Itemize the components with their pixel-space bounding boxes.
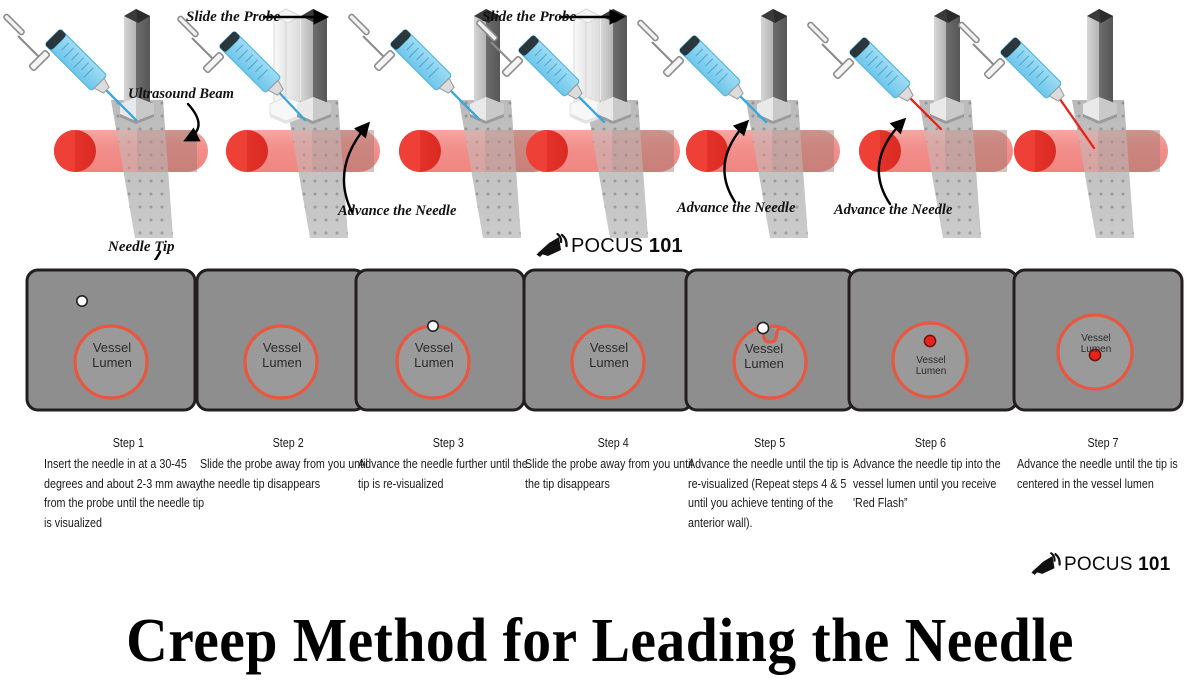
us-panel-1[interactable] [27, 270, 195, 410]
needle-tip-dot-red [924, 335, 935, 346]
needle-tip-dot [428, 321, 438, 331]
label-advance-the-needle-3: Advance the Needle [834, 202, 952, 219]
brand-wordmark: POCUS 101 [1064, 554, 1170, 576]
step-caption-2: Step 2 Slide the probe away from you unt… [200, 434, 376, 494]
diagram-canvas: Slide the Probe Slide the Probe Ultrasou… [0, 0, 1200, 685]
us-panel-2[interactable] [197, 270, 365, 410]
step-title: Step 5 [688, 434, 851, 454]
ultrasound-probe-waves-icon [1030, 552, 1062, 577]
label-needle-tip: Needle Tip [108, 239, 175, 256]
ultrasound-panel-row [0, 268, 1200, 423]
step-title: Step 2 [200, 434, 376, 454]
step-body: Advance the needle until the tip is re-v… [688, 455, 851, 534]
scene-step-7 [958, 9, 1168, 238]
brand-wordmark: POCUS 101 [571, 235, 683, 258]
step-title: Step 1 [44, 434, 213, 454]
step-caption-6: Step 6 Advance the needle tip into the v… [853, 434, 1008, 514]
scene-step-1 [3, 9, 208, 238]
top-row-scenes [0, 0, 1200, 260]
step-title: Step 3 [358, 434, 539, 454]
needle-tip-dot [77, 296, 87, 306]
label-slide-the-probe-2: Slide the Probe [482, 9, 576, 26]
step-caption-5: Step 5 Advance the needle until the tip … [688, 434, 851, 534]
label-ultrasound-beam: Ultrasound Beam [128, 86, 234, 103]
step-caption-7: Step 7 Advance the needle until the tip … [1017, 434, 1189, 494]
pocus-101-logo-top: POCUS 101 [535, 233, 683, 259]
step-body: Slide the probe away from you until the … [200, 455, 376, 495]
label-slide-the-probe-1: Slide the Probe [186, 9, 280, 26]
us-panel-3[interactable] [356, 270, 524, 410]
needle-tip-dot [757, 322, 768, 333]
step-title: Step 6 [853, 434, 1008, 454]
step-body: Advance the needle until the tip is cent… [1017, 455, 1189, 495]
step-title: Step 7 [1017, 434, 1189, 454]
step-caption-4: Step 4 Slide the probe away from you unt… [525, 434, 701, 494]
step-body: Slide the probe away from you until the … [525, 455, 701, 495]
step-title: Step 4 [525, 434, 701, 454]
label-advance-the-needle-1: Advance the Needle [338, 203, 456, 220]
needle-tip-dot-red [1089, 349, 1100, 360]
us-panel-5[interactable] [686, 270, 854, 410]
us-panel-6[interactable] [849, 270, 1017, 410]
us-panel-7[interactable] [1014, 270, 1182, 410]
step-body: Insert the needle in at a 30-45 degrees … [44, 455, 213, 534]
page-title: Creep Method for Leading the Needle [42, 606, 1158, 677]
pocus-101-logo-bottom: POCUS 101 [1030, 552, 1170, 577]
label-advance-the-needle-2: Advance the Needle [677, 200, 795, 217]
step-body: Advance the needle tip into the vessel l… [853, 455, 1008, 514]
step-caption-3: Step 3 Advance the needle further until … [358, 434, 539, 494]
step-body: Advance the needle further until the tip… [358, 455, 539, 495]
ultrasound-probe-waves-icon [535, 233, 569, 259]
step-caption-1: Step 1 Insert the needle in at a 30-45 d… [44, 434, 213, 534]
us-panel-4[interactable] [524, 270, 692, 410]
